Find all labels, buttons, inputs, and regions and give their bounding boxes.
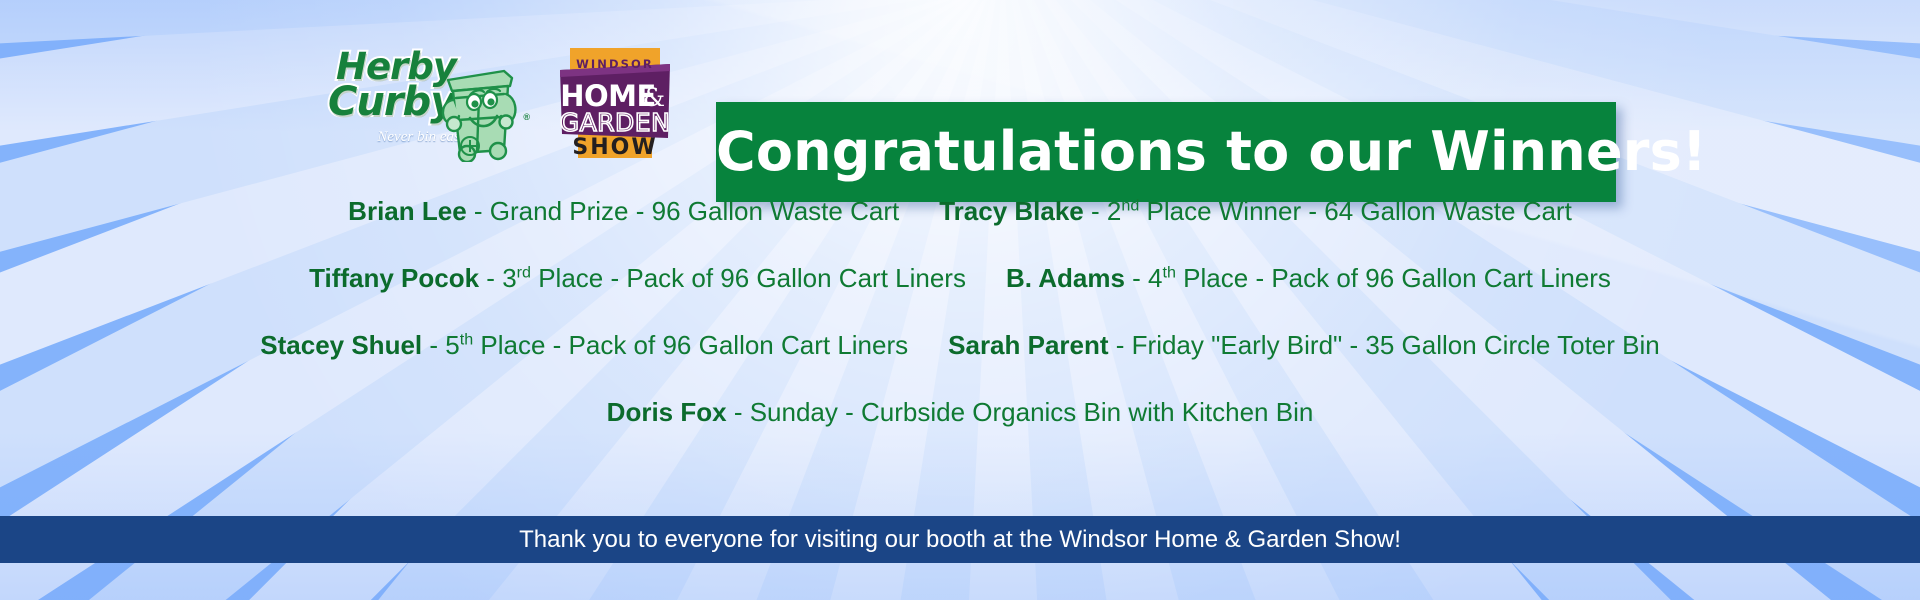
winner-place: 5 — [445, 330, 459, 360]
footer-bar: Thank you to everyone for visiting our b… — [0, 516, 1920, 563]
winner-place: Friday "Early Bird" — [1132, 330, 1343, 360]
winner-prize: - Pack of 96 Gallon Cart Liners — [603, 263, 966, 293]
waste-cart-mascot-icon — [434, 58, 520, 162]
winner-name: Tiffany Pocok — [309, 263, 479, 293]
winner-entry: Doris Fox - Sunday - Curbside Organics B… — [607, 397, 1314, 428]
winner-place-tail: Place — [531, 263, 603, 293]
winner-row: Tiffany Pocok - 3rd Place - Pack of 96 G… — [0, 263, 1920, 294]
winner-name: Sarah Parent — [948, 330, 1108, 360]
winner-name: B. Adams — [1006, 263, 1125, 293]
winner-place: 3 — [502, 263, 516, 293]
winner-place: 4 — [1148, 263, 1162, 293]
winner-entry: Stacey Shuel - 5th Place - Pack of 96 Ga… — [260, 330, 908, 361]
winner-name: Stacey Shuel — [260, 330, 422, 360]
winner-place: Grand Prize — [490, 196, 629, 226]
winner-entry: Tiffany Pocok - 3rd Place - Pack of 96 G… — [309, 263, 966, 294]
winner-place-ordinal: th — [460, 330, 473, 348]
footer-message: Thank you to everyone for visiting our b… — [0, 516, 1920, 563]
logo-windsor-text: WINDSOR — [576, 57, 654, 71]
banner-headline: Congratulations to our Winners! — [716, 102, 1616, 202]
winner-prize: - Pack of 96 Gallon Cart Liners — [545, 330, 908, 360]
logo-show-text: SHOW — [572, 135, 657, 160]
winner-name: Tracy Blake — [939, 196, 1084, 226]
winner-separator: - — [1125, 263, 1148, 293]
winner-name: Brian Lee — [348, 196, 467, 226]
logo-garden-text: GARDEN — [560, 108, 671, 137]
winner-separator: - — [727, 397, 750, 427]
winner-place-tail: Place Winner — [1139, 196, 1301, 226]
winner-entry: Brian Lee - Grand Prize - 96 Gallon Wast… — [348, 196, 899, 227]
winner-prize: - 35 Gallon Circle Toter Bin — [1342, 330, 1659, 360]
winner-separator: - — [1084, 196, 1107, 226]
winner-prize: - Curbside Organics Bin with Kitchen Bin — [838, 397, 1313, 427]
winner-prize: - 64 Gallon Waste Cart — [1301, 196, 1572, 226]
winner-place-tail: Place — [473, 330, 545, 360]
winner-place: Sunday — [750, 397, 838, 427]
winner-separator: - — [467, 196, 490, 226]
winner-row: Doris Fox - Sunday - Curbside Organics B… — [0, 397, 1920, 428]
winner-prize: - 96 Gallon Waste Cart — [629, 196, 900, 226]
winners-list: Brian Lee - Grand Prize - 96 Gallon Wast… — [0, 196, 1920, 428]
header: Herby Curby ® Never bin easier. — [0, 40, 1920, 160]
promo-banner: Herby Curby ® Never bin easier. — [0, 0, 1920, 600]
winner-separator: - — [1109, 330, 1132, 360]
winner-row: Brian Lee - Grand Prize - 96 Gallon Wast… — [0, 196, 1920, 227]
winner-entry: Tracy Blake - 2nd Place Winner - 64 Gall… — [939, 196, 1572, 227]
winner-separator: - — [422, 330, 445, 360]
winner-entry: B. Adams - 4th Place - Pack of 96 Gallon… — [1006, 263, 1611, 294]
winner-place-ordinal: rd — [517, 263, 531, 281]
winner-place: 2 — [1107, 196, 1121, 226]
winner-separator: - — [479, 263, 502, 293]
winner-prize: - Pack of 96 Gallon Cart Liners — [1248, 263, 1611, 293]
winner-place-ordinal: nd — [1121, 196, 1139, 214]
congratulations-banner: Congratulations to our Winners! — [716, 102, 1616, 202]
registered-mark-icon: ® — [523, 112, 530, 122]
winner-place-tail: Place — [1176, 263, 1248, 293]
winner-row: Stacey Shuel - 5th Place - Pack of 96 Ga… — [0, 330, 1920, 361]
winner-place-ordinal: th — [1163, 263, 1176, 281]
winner-name: Doris Fox — [607, 397, 727, 427]
windsor-home-garden-show-logo: WINDSOR HOME & GARDEN SHOW — [556, 44, 674, 162]
winner-entry: Sarah Parent - Friday "Early Bird" - 35 … — [948, 330, 1660, 361]
